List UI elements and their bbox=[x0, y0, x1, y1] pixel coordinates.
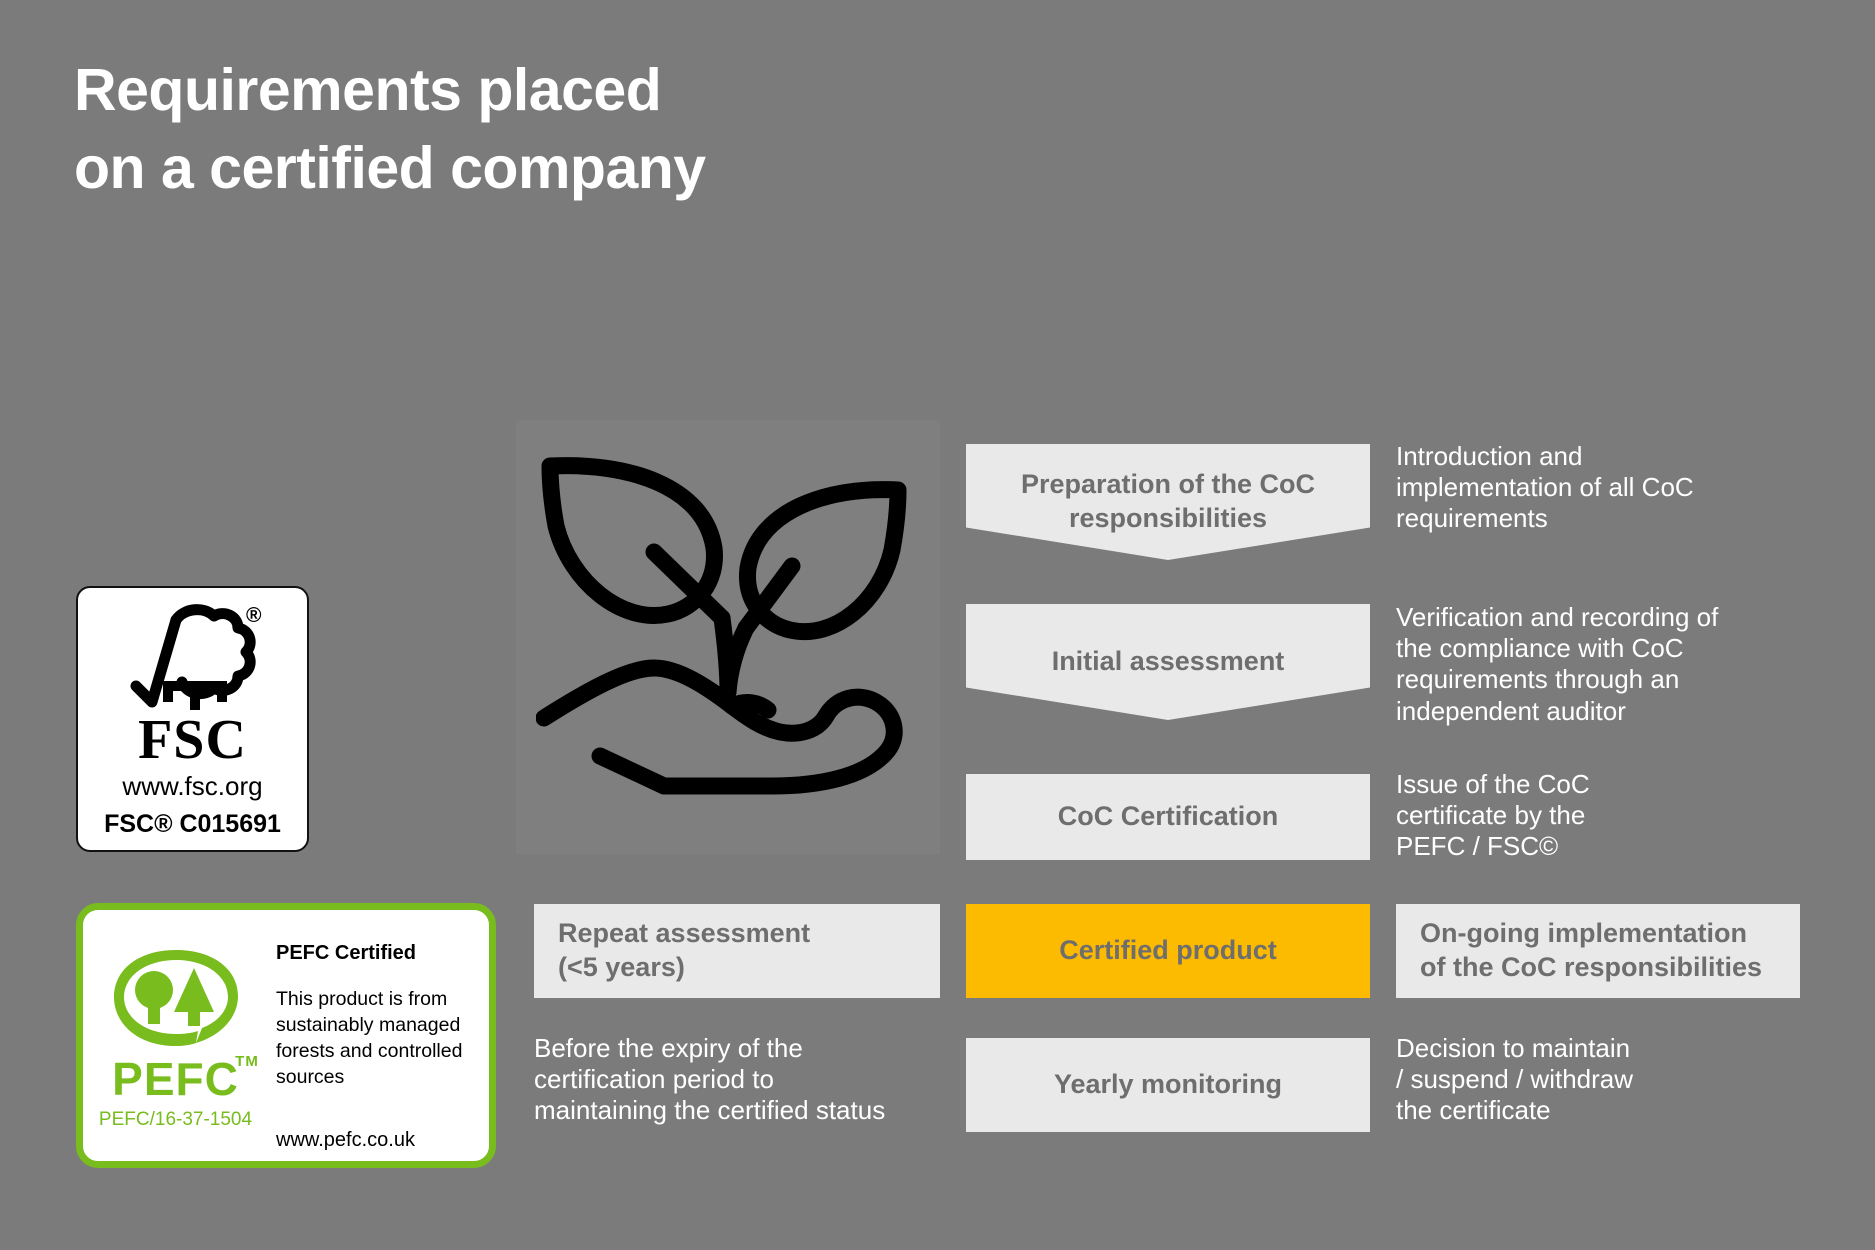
flow-step-certified-product[interactable]: Certified product bbox=[966, 904, 1370, 998]
flow-step-preparation[interactable]: Preparation of the CoC responsibilities bbox=[966, 444, 1370, 560]
flow-step-repeat-assessment[interactable]: Repeat assessment (<5 years) bbox=[534, 904, 940, 998]
flow-step-label: Yearly monitoring bbox=[1054, 1068, 1282, 1102]
flow-step-label: CoC Certification bbox=[1058, 800, 1279, 834]
fsc-certification-label: ® FSC www.fsc.org FSC® C015691 bbox=[76, 586, 309, 852]
flow-step-ongoing-implementation[interactable]: On-going implementation of the CoC respo… bbox=[1396, 904, 1800, 998]
flow-step-label: Certified product bbox=[1059, 934, 1277, 968]
fsc-url: www.fsc.org bbox=[122, 771, 262, 802]
flow-desc-initial-assessment: Verification and recording of the compli… bbox=[1396, 602, 1796, 727]
pefc-licence-code: PEFC/16-37-1504 bbox=[99, 1109, 252, 1131]
flow-step-label: Repeat assessment (<5 years) bbox=[558, 917, 810, 985]
flow-step-label: Preparation of the CoC responsibilities bbox=[1021, 468, 1315, 536]
trademark-icon: TM bbox=[235, 1054, 259, 1069]
flow-desc-repeat-assessment: Before the expiry of the certification p… bbox=[534, 1033, 954, 1127]
pefc-text-column: PEFC Certified This product is from sust… bbox=[268, 910, 489, 1161]
pefc-heading: PEFC Certified bbox=[276, 942, 479, 965]
pefc-logo-column: PEFC TM PEFC/16-37-1504 bbox=[83, 910, 268, 1161]
flow-step-initial-assessment[interactable]: Initial assessment bbox=[966, 604, 1370, 720]
fsc-licence-code: FSC® C015691 bbox=[104, 810, 281, 839]
pefc-certification-label: PEFC TM PEFC/16-37-1504 PEFC Certified T… bbox=[76, 903, 496, 1168]
flow-step-label: Initial assessment bbox=[1052, 645, 1285, 679]
registered-trademark-icon: ® bbox=[246, 604, 261, 628]
pefc-trees-swoosh-icon bbox=[110, 946, 242, 1054]
pefc-url: www.pefc.co.uk bbox=[276, 1129, 479, 1152]
plant-in-hand-icon bbox=[536, 442, 920, 832]
pefc-body-text: This product is from sustainably managed… bbox=[276, 987, 479, 1091]
flow-desc-yearly-monitoring: Decision to maintain / suspend / withdra… bbox=[1396, 1033, 1796, 1127]
fsc-wordmark: FSC bbox=[138, 712, 247, 768]
plant-icon-panel bbox=[516, 420, 940, 854]
flow-step-coc-certification[interactable]: CoC Certification bbox=[966, 774, 1370, 860]
flow-desc-preparation: Introduction and implementation of all C… bbox=[1396, 441, 1796, 535]
pefc-wordmark-text: PEFC bbox=[112, 1053, 239, 1105]
flow-step-yearly-monitoring[interactable]: Yearly monitoring bbox=[966, 1038, 1370, 1132]
page-title: Requirements placed on a certified compa… bbox=[74, 52, 706, 208]
pefc-wordmark: PEFC TM bbox=[112, 1056, 239, 1102]
fsc-tree-checkmark-icon: ® bbox=[118, 598, 268, 716]
flow-step-label: On-going implementation of the CoC respo… bbox=[1420, 917, 1762, 985]
flow-desc-coc-certification: Issue of the CoC certificate by the PEFC… bbox=[1396, 769, 1796, 863]
